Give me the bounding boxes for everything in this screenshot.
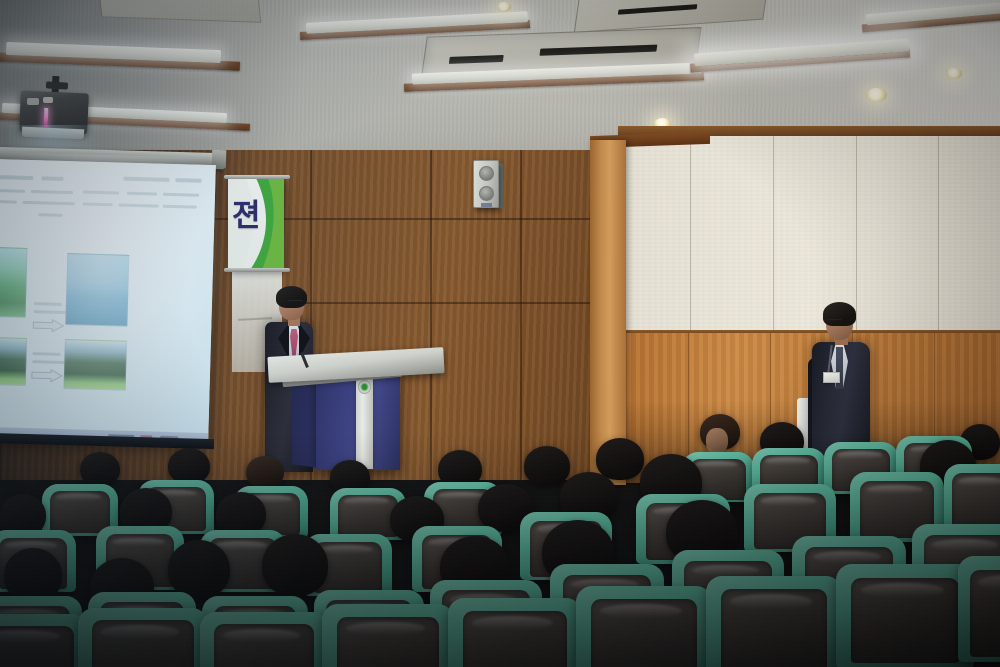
arrow-right-icon: [31, 368, 63, 383]
leaf-emblem-leaf: [362, 384, 367, 390]
slide-photo: [64, 339, 127, 391]
arrow-right-icon: [32, 318, 64, 333]
auditorium-presentation-photo: 젼: [0, 0, 1000, 667]
banner-top-rod: [224, 175, 290, 179]
glasses-icon: [827, 319, 842, 323]
banner-bottom-rod: [224, 268, 290, 272]
banner-text: 젼: [232, 196, 272, 236]
projector-lens: [27, 98, 39, 105]
audience-seating-area: [0, 400, 1000, 667]
projector-vent: [43, 97, 53, 103]
presenter-hair: [276, 286, 307, 308]
speaker-driver-icon: [479, 186, 494, 201]
speaker-driver-icon: [479, 166, 494, 181]
slide-photo: [65, 253, 129, 327]
glasses-icon: [288, 300, 303, 304]
recessed-downlight: [946, 68, 962, 79]
slide-photo: [0, 337, 27, 386]
slide-photo: [0, 247, 27, 318]
projector-mount-bracket: [46, 81, 68, 89]
recessed-downlight: [866, 88, 887, 102]
speaker-badge: [481, 203, 492, 207]
recessed-downlight: [497, 2, 511, 12]
name-badge: [823, 372, 840, 383]
